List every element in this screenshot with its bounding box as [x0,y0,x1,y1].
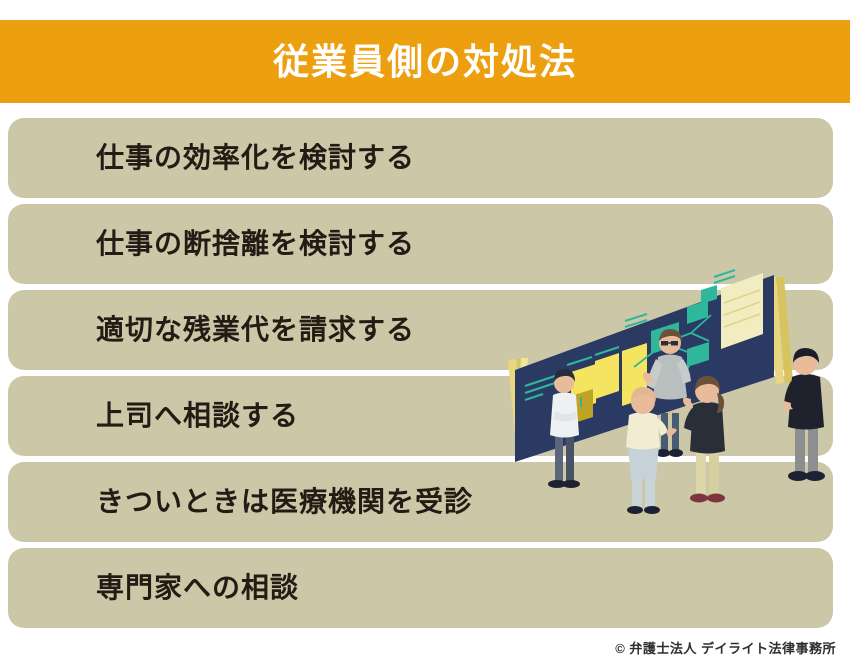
list-item-label: きついときは医療機関を受診 [96,488,473,516]
list-item: 専門家への相談 [8,548,833,628]
page-title: 従業員側の対処法 [273,44,577,80]
header-banner: 従業員側の対処法 [0,20,850,103]
list-item-label: 仕事の効率化を検討する [96,144,415,172]
list-item-label: 仕事の断捨離を検討する [96,230,415,258]
list-item: 上司へ相談する [8,376,833,456]
list-item: 適切な残業代を請求する [8,290,833,370]
list-item: きついときは医療機関を受診 [8,462,833,542]
list-item-label: 適切な残業代を請求する [96,316,415,344]
list-item: 仕事の効率化を検討する [8,118,833,198]
list-item: 仕事の断捨離を検討する [8,204,833,284]
list-item-label: 専門家への相談 [96,574,299,602]
list-item-label: 上司へ相談する [96,402,299,430]
coping-methods-list: 仕事の効率化を検討する 仕事の断捨離を検討する 適切な残業代を請求する 上司へ相… [8,118,833,634]
infographic-root: 従業員側の対処法 仕事の効率化を検討する 仕事の断捨離を検討する 適切な残業代を… [0,0,850,665]
copyright-credit: © 弁護士法人 デイライト法律事務所 [615,638,836,657]
